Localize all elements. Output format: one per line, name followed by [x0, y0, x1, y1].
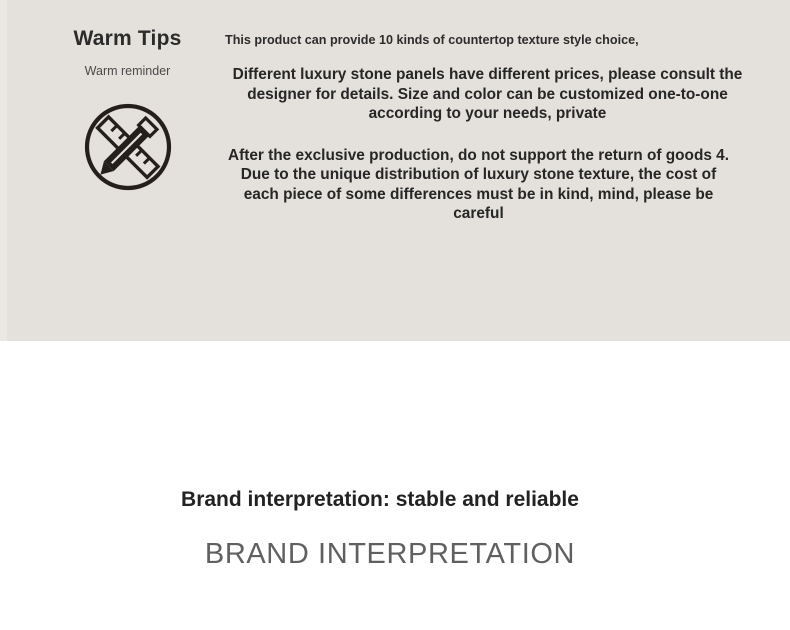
warm-tips-paragraph-1: Different luxury stone panels have diffe… [225, 65, 750, 124]
warm-tips-icon-wrap [40, 102, 215, 192]
warm-tips-panel: Warm Tips Warm reminder [0, 0, 790, 341]
warm-tips-lead-line: This product can provide 10 kinds of cou… [225, 31, 750, 49]
warm-tips-left-column: Warm Tips Warm reminder [40, 26, 215, 192]
pencil-ruler-circle-icon [83, 102, 173, 192]
panel-left-edge-strip [0, 0, 7, 341]
warm-tips-right-column: This product can provide 10 kinds of cou… [225, 31, 750, 224]
product-detail-page: Warm Tips Warm reminder [0, 0, 790, 630]
warm-tips-paragraph-2: After the exclusive production, do not s… [225, 146, 750, 224]
brand-subheading: BRAND INTERPRETATION [0, 536, 780, 572]
brand-heading: Brand interpretation: stable and reliabl… [0, 487, 760, 513]
warm-tips-title: Warm Tips [40, 26, 215, 52]
warm-tips-subtitle: Warm reminder [40, 62, 215, 80]
brand-interpretation-section: Brand interpretation: stable and reliabl… [0, 341, 790, 630]
